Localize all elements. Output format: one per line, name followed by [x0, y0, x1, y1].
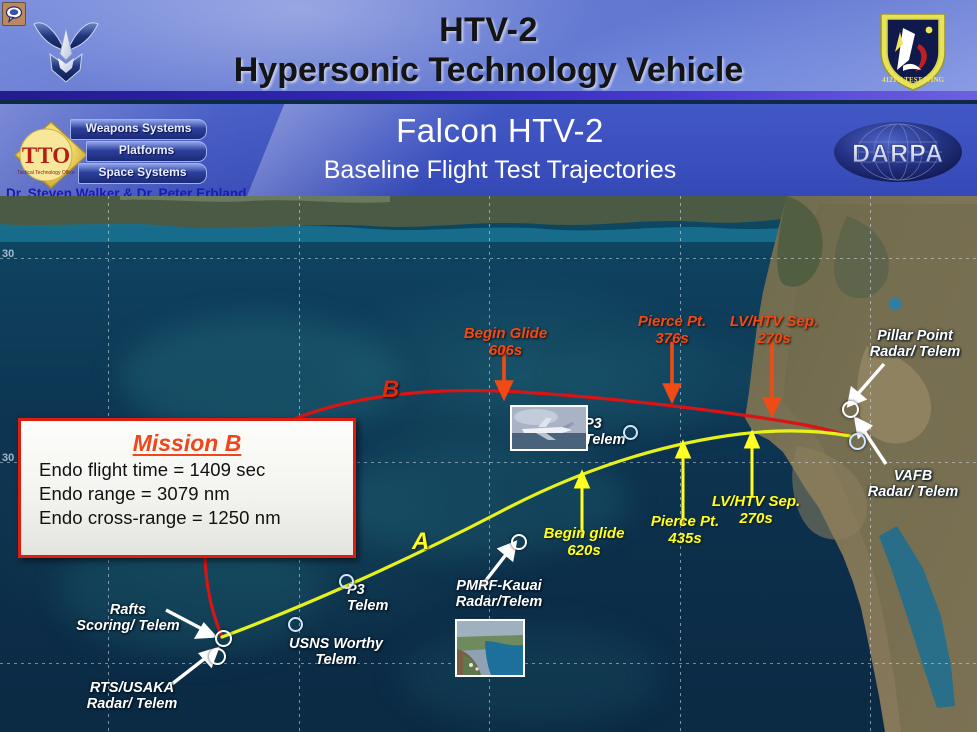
annotation-line2: 270s	[757, 330, 790, 347]
site-marker-vafb[interactable]	[849, 433, 866, 450]
map-canvas: 30 30	[0, 196, 977, 732]
site-line1: Pillar Point	[877, 328, 953, 344]
annotation-lv-htv-sep-a: LV/HTV Sep. 270s	[700, 494, 812, 528]
site-label-vafb: VAFB Radar/ Telem	[854, 468, 972, 500]
site-line2: Telem	[347, 598, 388, 614]
mission-b-line-1: Endo flight time = 1409 sec	[39, 459, 353, 481]
svg-text:DARPA: DARPA	[852, 140, 944, 168]
annotation-line1: Begin glide	[544, 525, 625, 542]
mission-b-line-3: Endo cross-range = 1250 nm	[39, 507, 353, 529]
site-marker-rts-usaka[interactable]	[209, 648, 226, 665]
tto-bar-space-systems: Space Systems	[78, 163, 207, 184]
site-label-pmrf-kauai: PMRF-Kauai Radar/Telem	[434, 578, 564, 610]
annotation-line2: 606s	[489, 342, 522, 359]
p3-aircraft-photo-north	[510, 405, 588, 451]
mission-b-info-box: Mission B Endo flight time = 1409 sec En…	[18, 418, 356, 558]
site-line2: Radar/ Telem	[87, 696, 178, 712]
page-subtitle: Hypersonic Technology Vehicle	[0, 52, 977, 89]
site-label-rafts-scoring: Rafts Scoring/ Telem	[58, 602, 198, 634]
header-band: HTV-2 Hypersonic Technology Vehicle 412T…	[0, 0, 977, 100]
site-line1: VAFB	[894, 468, 932, 484]
site-line2: Scoring/ Telem	[76, 618, 179, 634]
annotation-begin-glide-b: Begin Glide 606s	[448, 326, 563, 360]
presentation-title: Falcon HTV-2	[240, 112, 760, 150]
site-line1: Rafts	[110, 602, 146, 618]
tto-bar-weapons-systems: Weapons Systems	[70, 119, 207, 140]
site-label-pillar-point: Pillar Point Radar/ Telem	[856, 328, 974, 360]
trajectory-a-letter: A	[412, 528, 429, 556]
annotation-pierce-point-b: Pierce Pt. 376s	[622, 314, 722, 348]
trajectory-b-letter: B	[382, 376, 399, 404]
site-line2: Telem	[584, 432, 625, 448]
tto-logo-block: TTO Tactical Technology Office Weapons S…	[8, 117, 238, 195]
site-line2: Radar/Telem	[456, 594, 543, 610]
tto-bar-platforms: Platforms	[86, 141, 207, 162]
site-line2: Telem	[315, 652, 356, 668]
page-title: HTV-2	[0, 10, 977, 50]
site-marker-pmrf-kauai[interactable]	[511, 534, 527, 550]
412th-test-wing-emblem: 412TH TEST WING	[873, 8, 953, 94]
wing-ribbon-text: 412TW	[878, 90, 956, 100]
svg-text:Tactical Technology Office: Tactical Technology Office	[17, 170, 75, 176]
annotation-line1: Pierce Pt.	[638, 313, 706, 330]
svg-text:TTO: TTO	[22, 143, 70, 168]
darpa-logo: DARPA	[833, 121, 964, 183]
slide-root: HTV-2 Hypersonic Technology Vehicle 412T…	[0, 0, 977, 732]
annotation-line2: 270s	[739, 510, 772, 527]
site-line1: USNS Worthy	[289, 636, 383, 652]
site-line1: RTS/USAKA	[90, 680, 174, 696]
site-marker-rafts-scoring[interactable]	[215, 630, 232, 647]
annotation-line2: 435s	[668, 530, 701, 547]
site-line1: PMRF-Kauai	[456, 578, 541, 594]
annotation-begin-glide-a: Begin glide 620s	[534, 526, 634, 560]
site-label-p3-telem-south: P3 Telem	[347, 582, 407, 614]
site-label-usns-worthy: USNS Worthy Telem	[266, 636, 406, 668]
presentation-subtitle: Baseline Flight Test Trajectories	[240, 156, 760, 185]
site-line2: Radar/ Telem	[868, 484, 959, 500]
annotation-lv-htv-sep-b: LV/HTV Sep. 270s	[718, 314, 830, 348]
mission-b-title: Mission B	[21, 430, 353, 457]
annotation-line1: LV/HTV Sep.	[730, 313, 818, 330]
kauai-coastline-photo	[455, 619, 525, 677]
annotation-line1: Begin Glide	[464, 325, 547, 342]
mission-b-line-2: Endo range = 3079 nm	[39, 483, 353, 505]
site-label-rts-usaka: RTS/USAKA Radar/ Telem	[62, 680, 202, 712]
annotation-line2: 620s	[567, 542, 600, 559]
site-marker-pillar-point[interactable]	[842, 401, 859, 418]
site-marker-usns-worthy[interactable]	[288, 617, 303, 632]
site-marker-p3-south[interactable]	[339, 574, 354, 589]
annotation-line1: LV/HTV Sep.	[712, 493, 800, 510]
site-marker-p3-north[interactable]	[623, 425, 638, 440]
site-line2: Radar/ Telem	[870, 344, 961, 360]
svg-text:412TH TEST WING: 412TH TEST WING	[882, 76, 944, 84]
annotation-line2: 376s	[655, 330, 688, 347]
